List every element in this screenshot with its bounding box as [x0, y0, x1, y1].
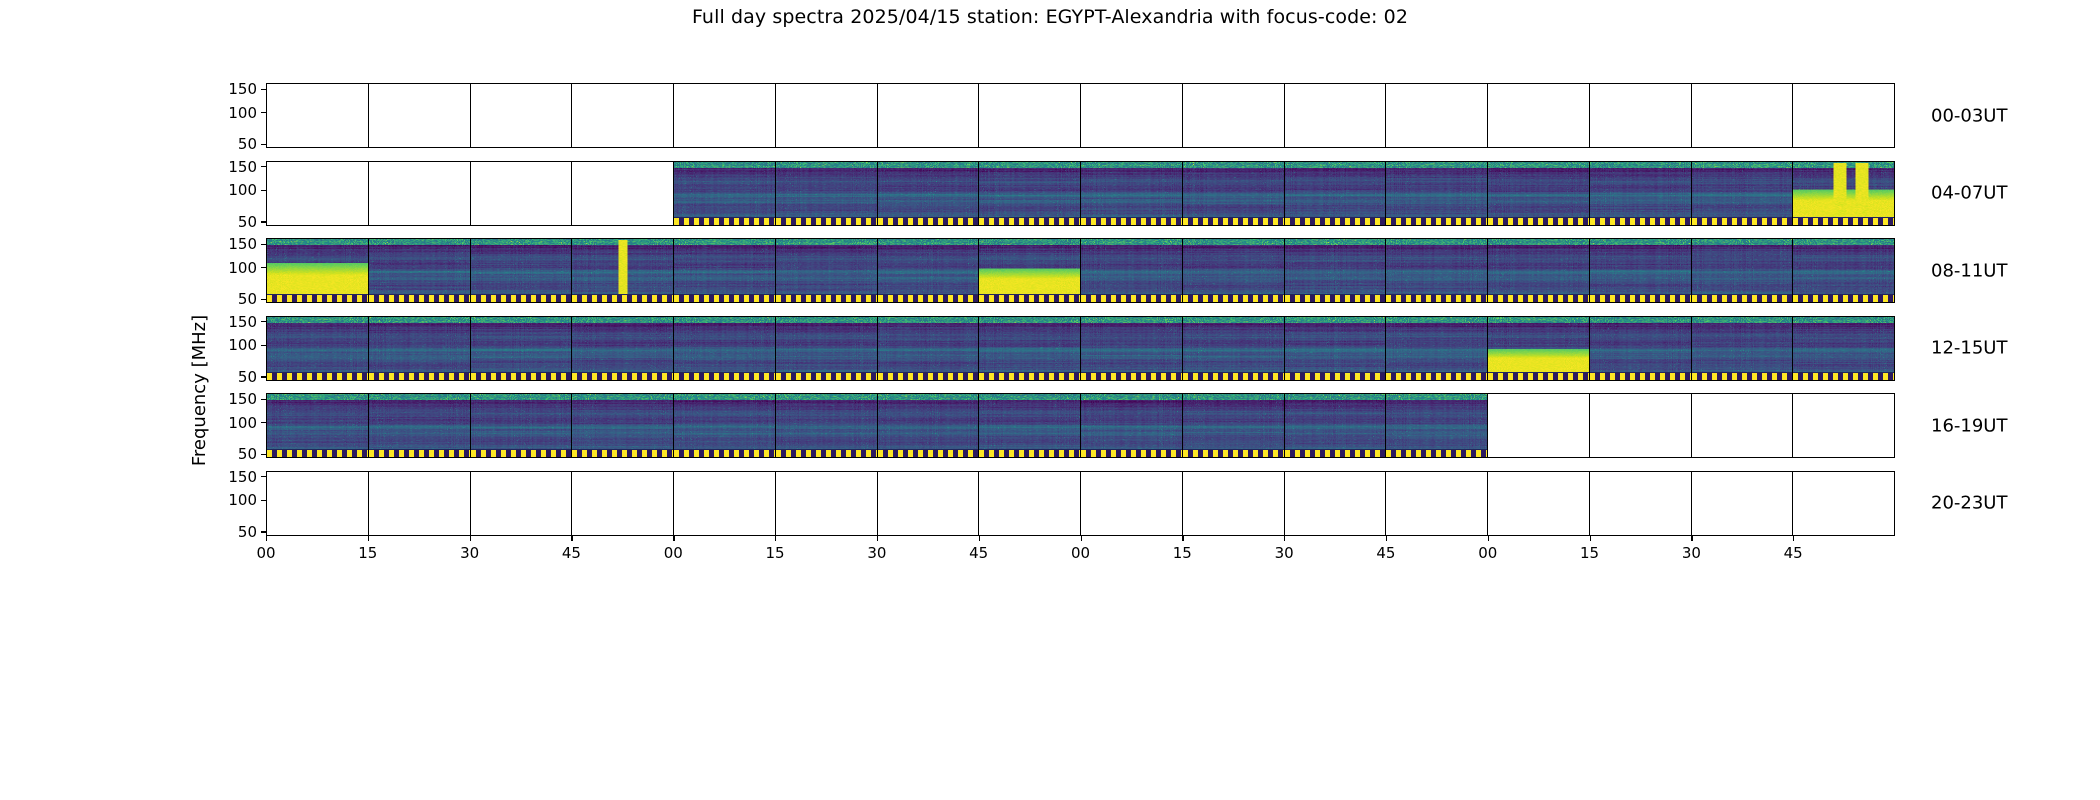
saturation-marker-strip: [1183, 294, 1284, 302]
row-panels: [267, 84, 1894, 147]
saturation-marker-strip: [1183, 217, 1284, 225]
x-axis-tick-mark: [1386, 536, 1387, 541]
spectrogram-panel: [1285, 317, 1387, 380]
saturation-marker-strip: [1488, 372, 1589, 380]
x-axis-tick-mark: [877, 536, 878, 541]
spectrogram-row: [266, 83, 1895, 148]
y-axis-tick-label: 50: [238, 213, 257, 231]
spectrogram-panel: [1488, 472, 1590, 535]
y-axis-tick-mark: [261, 221, 266, 222]
saturation-marker-strip: [471, 372, 572, 380]
spectrogram-image: [674, 394, 775, 457]
spectrogram-image: [1590, 317, 1691, 380]
spectrogram-panel: [1488, 317, 1590, 380]
spectrogram-panel: [1488, 394, 1590, 457]
spectrogram-image: [1793, 317, 1894, 380]
spectrogram-panel: [369, 317, 471, 380]
saturation-marker-strip: [878, 294, 979, 302]
y-axis-tick-label: 100: [228, 181, 257, 199]
spectrogram-panel: [267, 84, 369, 147]
spectrogram-image: [878, 317, 979, 380]
y-axis-tick-mark: [261, 399, 266, 400]
y-axis-tick-label: 100: [228, 259, 257, 277]
y-axis-tick-label: 150: [228, 313, 257, 331]
saturation-marker-strip: [369, 372, 470, 380]
y-axis-tick-mark: [261, 244, 266, 245]
x-axis-tick-label: 15: [358, 544, 377, 562]
spectrogram-panel: [369, 162, 471, 225]
saturation-marker-strip: [471, 449, 572, 457]
spectrogram-image: [369, 239, 470, 302]
spectrogram-image: [1488, 239, 1589, 302]
saturation-marker-strip: [979, 217, 1080, 225]
y-axis-tick-mark: [261, 190, 266, 191]
row-plot-box: [266, 471, 1895, 536]
spectrogram-image: [878, 239, 979, 302]
spectrogram-row: [266, 238, 1895, 303]
x-axis-tick-mark: [673, 536, 674, 541]
spectrogram-image: [1793, 239, 1894, 302]
spectrogram-image: [1081, 239, 1182, 302]
spectrogram-panel: [776, 239, 878, 302]
y-axis-tick-label: 150: [228, 235, 257, 253]
row-panels: [267, 239, 1894, 302]
y-axis-tick-label: 150: [228, 158, 257, 176]
saturation-marker-strip: [1692, 294, 1793, 302]
x-axis-tick-label: 15: [766, 544, 785, 562]
saturation-marker-strip: [1081, 449, 1182, 457]
spectrogram-image: [572, 239, 673, 302]
spectrogram-panel: [1692, 317, 1794, 380]
x-axis-tick-label: 15: [1173, 544, 1192, 562]
spectrogram-row: [266, 161, 1895, 226]
row-plot-box: [266, 316, 1895, 381]
x-axis-tick-mark: [1488, 536, 1489, 541]
y-axis-tick-label: 100: [228, 414, 257, 432]
spectrogram-panel: [471, 239, 573, 302]
x-axis-tick-mark: [1182, 536, 1183, 541]
y-axis-tick-label: 50: [238, 135, 257, 153]
row-time-label: 04-07UT: [1931, 183, 2007, 204]
spectrogram-panel: [1692, 394, 1794, 457]
row-panels: [267, 162, 1894, 225]
spectrogram-image: [1386, 239, 1487, 302]
y-axis-tick-label: 150: [228, 468, 257, 486]
spectrogram-panel: [1590, 472, 1692, 535]
spectrogram-panel: [1081, 84, 1183, 147]
y-axis-tick-mark: [261, 299, 266, 300]
x-axis-tick-mark: [1284, 536, 1285, 541]
spectrogram-panel: [1692, 84, 1794, 147]
x-axis-tick-label: 00: [256, 544, 275, 562]
saturation-marker-strip: [471, 294, 572, 302]
spectrogram-panel: [1285, 472, 1387, 535]
spectrogram-image: [1590, 162, 1691, 225]
spectrogram-image: [267, 317, 368, 380]
saturation-marker-strip: [878, 372, 979, 380]
row-plot-box: [266, 161, 1895, 226]
x-axis-tick-mark: [470, 536, 471, 541]
row-panels: [267, 317, 1894, 380]
spectrogram-image: [1183, 317, 1284, 380]
spectrogram-image: [1285, 394, 1386, 457]
spectrogram-panel: [1590, 317, 1692, 380]
spectrogram-row: [266, 393, 1895, 458]
spectrogram-panel: [1793, 84, 1894, 147]
spectrogram-panel: [369, 239, 471, 302]
saturation-marker-strip: [1183, 449, 1284, 457]
y-axis-tick-label: 150: [228, 80, 257, 98]
x-axis-tick-label: 45: [562, 544, 581, 562]
spectrogram-image: [878, 162, 979, 225]
spectrogram-panel: [776, 84, 878, 147]
saturation-marker-strip: [267, 449, 368, 457]
x-axis-tick-mark: [571, 536, 572, 541]
spectrogram-image: [979, 239, 1080, 302]
spectrogram-panel: [979, 162, 1081, 225]
row-plot-box: [266, 393, 1895, 458]
spectrogram-panel: [471, 472, 573, 535]
spectrogram-panel: [878, 84, 980, 147]
spectrogram-image: [369, 394, 470, 457]
y-axis-tick-mark: [261, 476, 266, 477]
spectrogram-image: [1793, 162, 1894, 225]
spectrogram-panel: [1285, 394, 1387, 457]
spectrogram-panel: [1488, 84, 1590, 147]
saturation-marker-strip: [1183, 372, 1284, 380]
spectrogram-panel: [979, 84, 1081, 147]
saturation-marker-strip: [1692, 217, 1793, 225]
saturation-marker-strip: [1386, 372, 1487, 380]
spectrogram-panel: [1590, 394, 1692, 457]
spectrogram-panel: [1488, 162, 1590, 225]
spectrogram-image: [979, 162, 1080, 225]
row-time-label: 12-15UT: [1931, 338, 2007, 359]
spectrogram-panel: [1692, 162, 1794, 225]
spectrogram-panel: [674, 394, 776, 457]
spectrogram-image: [1183, 162, 1284, 225]
row-time-label: 16-19UT: [1931, 415, 2007, 436]
spectrogram-panel: [979, 472, 1081, 535]
spectrogram-panel: [878, 162, 980, 225]
spectrogram-panel: [878, 239, 980, 302]
spectrogram-panel: [776, 162, 878, 225]
x-axis-tick-mark: [1691, 536, 1692, 541]
x-axis-tick-label: 00: [1071, 544, 1090, 562]
spectrogram-panel: [1183, 84, 1285, 147]
spectrogram-image: [878, 394, 979, 457]
spectrogram-image: [674, 317, 775, 380]
row-panels: [267, 394, 1894, 457]
spectrogram-image: [1386, 317, 1487, 380]
spectrogram-image: [1590, 239, 1691, 302]
x-axis-tick-mark: [266, 536, 267, 541]
spectrogram-panel: [572, 394, 674, 457]
spectrogram-panel: [776, 472, 878, 535]
spectrogram-panel: [1793, 317, 1894, 380]
spectrogram-panel: [471, 162, 573, 225]
x-axis-tick-label: 00: [1478, 544, 1497, 562]
spectrogram-image: [1081, 162, 1182, 225]
spectrogram-panel: [674, 84, 776, 147]
spectrogram-panel: [1081, 317, 1183, 380]
x-axis-tick-label: 45: [1784, 544, 1803, 562]
spectrogram-panel: [471, 394, 573, 457]
saturation-marker-strip: [369, 449, 470, 457]
y-axis-tick-label: 50: [238, 368, 257, 386]
spectrogram-panel: [979, 394, 1081, 457]
spectrogram-panel: [878, 394, 980, 457]
spectrogram-panel: [1793, 394, 1894, 457]
y-axis-tick-mark: [261, 422, 266, 423]
saturation-marker-strip: [1793, 372, 1894, 380]
spectrogram-panel: [1386, 239, 1488, 302]
x-axis-tick-mark: [368, 536, 369, 541]
y-axis-tick-label: 50: [238, 445, 257, 463]
spectrogram-image: [979, 317, 1080, 380]
y-axis-tick-mark: [261, 267, 266, 268]
spectrogram-panel: [267, 239, 369, 302]
spectrogram-panel: [776, 394, 878, 457]
saturation-marker-strip: [1692, 372, 1793, 380]
row-time-label: 20-23UT: [1931, 493, 2007, 514]
spectrogram-image: [267, 394, 368, 457]
saturation-marker-strip: [1386, 294, 1487, 302]
x-axis-tick-mark: [979, 536, 980, 541]
y-axis-tick-label: 150: [228, 390, 257, 408]
spectrogram-panel: [1081, 472, 1183, 535]
saturation-marker-strip: [979, 372, 1080, 380]
x-axis-tick-label: 30: [1275, 544, 1294, 562]
x-axis-tick-mark: [1590, 536, 1591, 541]
spectrogram-panel: [979, 317, 1081, 380]
spectrogram-image: [267, 239, 368, 302]
saturation-marker-strip: [1285, 372, 1386, 380]
spectrogram-image: [979, 394, 1080, 457]
spectrogram-panel: [878, 472, 980, 535]
spectrogram-panel: [1488, 239, 1590, 302]
spectrogram-panel: [369, 472, 471, 535]
spectrogram-panel: [1793, 162, 1894, 225]
spectrogram-image: [1692, 162, 1793, 225]
spectrogram-panel: [572, 239, 674, 302]
y-axis-tick-mark: [261, 89, 266, 90]
spectrogram-panel: [1285, 239, 1387, 302]
row-plot-box: [266, 83, 1895, 148]
spectrogram-image: [1285, 317, 1386, 380]
saturation-marker-strip: [1081, 217, 1182, 225]
saturation-marker-strip: [979, 294, 1080, 302]
spectrogram-panel: [1081, 239, 1183, 302]
saturation-marker-strip: [1386, 217, 1487, 225]
spectrogram-image: [1081, 317, 1182, 380]
y-axis-label: Frequency [MHz]: [188, 275, 212, 505]
spectrogram-panel: [369, 394, 471, 457]
y-axis-tick-label: 100: [228, 104, 257, 122]
y-axis-tick-mark: [261, 454, 266, 455]
spectrogram-panel: [471, 84, 573, 147]
saturation-marker-strip: [572, 449, 673, 457]
spectrogram-panel: [1183, 162, 1285, 225]
saturation-marker-strip: [1488, 294, 1589, 302]
saturation-marker-strip: [1081, 294, 1182, 302]
y-axis-tick-label: 50: [238, 290, 257, 308]
saturation-marker-strip: [776, 372, 877, 380]
saturation-marker-strip: [1386, 449, 1487, 457]
saturation-marker-strip: [1793, 294, 1894, 302]
y-axis-tick-mark: [261, 166, 266, 167]
spectrogram-panel: [1692, 239, 1794, 302]
saturation-marker-strip: [369, 294, 470, 302]
y-axis-label-text: Frequency [MHz]: [190, 314, 211, 465]
figure-canvas: Full day spectra 2025/04/15 station: EGY…: [0, 0, 2100, 800]
saturation-marker-strip: [979, 449, 1080, 457]
spectrogram-panel: [674, 317, 776, 380]
saturation-marker-strip: [878, 217, 979, 225]
spectrogram-image: [1692, 317, 1793, 380]
saturation-marker-strip: [267, 372, 368, 380]
spectrogram-panel: [1081, 394, 1183, 457]
saturation-marker-strip: [878, 449, 979, 457]
spectrogram-panel: [267, 472, 369, 535]
spectrogram-panel: [674, 162, 776, 225]
y-axis-tick-mark: [261, 321, 266, 322]
spectrogram-panel: [1692, 472, 1794, 535]
spectrogram-image: [1692, 239, 1793, 302]
spectrogram-image: [572, 394, 673, 457]
spectrogram-panel: [1386, 84, 1488, 147]
y-axis-tick-mark: [261, 376, 266, 377]
saturation-marker-strip: [1590, 217, 1691, 225]
y-axis-tick-mark: [261, 112, 266, 113]
spectrogram-panel: [471, 317, 573, 380]
spectrogram-row: [266, 471, 1895, 536]
spectrogram-panel: [1183, 239, 1285, 302]
spectrogram-image: [776, 162, 877, 225]
spectrogram-image: [471, 394, 572, 457]
spectrogram-panel: [267, 162, 369, 225]
spectrogram-panel: [369, 84, 471, 147]
x-axis-tick-mark: [1081, 536, 1082, 541]
x-axis-tick-label: 45: [969, 544, 988, 562]
row-time-label: 08-11UT: [1931, 260, 2007, 281]
spectrogram-panel: [1590, 239, 1692, 302]
spectrogram-image: [674, 239, 775, 302]
saturation-marker-strip: [267, 294, 368, 302]
saturation-marker-strip: [572, 372, 673, 380]
spectrogram-image: [369, 317, 470, 380]
saturation-marker-strip: [1590, 372, 1691, 380]
saturation-marker-strip: [674, 449, 775, 457]
saturation-marker-strip: [776, 449, 877, 457]
y-axis-tick-label: 50: [238, 523, 257, 541]
saturation-marker-strip: [1488, 217, 1589, 225]
y-axis-tick-mark: [261, 345, 266, 346]
row-panels: [267, 472, 1894, 535]
spectrogram-image: [776, 317, 877, 380]
spectrogram-panel: [1793, 239, 1894, 302]
spectrogram-panel: [1386, 317, 1488, 380]
spectrogram-image: [674, 162, 775, 225]
spectrogram-panel: [1285, 162, 1387, 225]
spectrogram-panel: [267, 394, 369, 457]
spectrogram-row: [266, 316, 1895, 381]
saturation-marker-strip: [1285, 449, 1386, 457]
spectrogram-panel: [267, 317, 369, 380]
spectrogram-image: [572, 317, 673, 380]
spectrogram-panel: [572, 472, 674, 535]
spectrogram-panel: [1285, 84, 1387, 147]
x-axis-tick-mark: [775, 536, 776, 541]
spectrogram-image: [776, 239, 877, 302]
saturation-marker-strip: [776, 294, 877, 302]
saturation-marker-strip: [776, 217, 877, 225]
x-axis-tick-label: 30: [867, 544, 886, 562]
y-axis-tick-label: 100: [228, 491, 257, 509]
y-axis-tick-mark: [261, 531, 266, 532]
spectrogram-image: [1488, 317, 1589, 380]
spectrogram-panel: [1183, 317, 1285, 380]
saturation-marker-strip: [1285, 217, 1386, 225]
x-axis-tick-label: 30: [460, 544, 479, 562]
spectrogram-panel: [572, 84, 674, 147]
spectrogram-image: [1488, 162, 1589, 225]
spectrogram-image: [1386, 162, 1487, 225]
spectrogram-panel: [674, 239, 776, 302]
spectrogram-panel: [1081, 162, 1183, 225]
saturation-marker-strip: [572, 294, 673, 302]
spectrogram-image: [1183, 394, 1284, 457]
spectrogram-panel: [979, 239, 1081, 302]
spectrogram-panel: [1590, 162, 1692, 225]
spectrogram-image: [1386, 394, 1487, 457]
spectrogram-panel: [776, 317, 878, 380]
spectrogram-panel: [1183, 394, 1285, 457]
spectrogram-panel: [1590, 84, 1692, 147]
spectrogram-image: [471, 239, 572, 302]
x-axis-tick-label: 30: [1682, 544, 1701, 562]
spectrogram-image: [1081, 394, 1182, 457]
spectrogram-panel: [572, 162, 674, 225]
spectrogram-panel: [1183, 472, 1285, 535]
spectrogram-image: [1285, 239, 1386, 302]
spectrogram-panel: [1386, 162, 1488, 225]
spectrogram-panel: [1793, 472, 1894, 535]
y-axis-tick-mark: [261, 144, 266, 145]
spectrogram-panel: [1386, 394, 1488, 457]
spectrogram-image: [1285, 162, 1386, 225]
row-plot-box: [266, 238, 1895, 303]
figure-title: Full day spectra 2025/04/15 station: EGY…: [0, 6, 2100, 28]
spectrogram-panel: [572, 317, 674, 380]
saturation-marker-strip: [1590, 294, 1691, 302]
spectrogram-image: [776, 394, 877, 457]
spectrogram-panel: [674, 472, 776, 535]
saturation-marker-strip: [1081, 372, 1182, 380]
x-axis-tick-label: 15: [1580, 544, 1599, 562]
spectrogram-image: [471, 317, 572, 380]
saturation-marker-strip: [674, 372, 775, 380]
saturation-marker-strip: [1285, 294, 1386, 302]
spectrogram-panel: [878, 317, 980, 380]
x-axis-tick-label: 45: [1376, 544, 1395, 562]
saturation-marker-strip: [1793, 217, 1894, 225]
saturation-marker-strip: [674, 294, 775, 302]
x-axis-tick-mark: [1793, 536, 1794, 541]
y-axis-tick-mark: [261, 500, 266, 501]
x-axis-tick-label: 00: [664, 544, 683, 562]
row-time-label: 00-03UT: [1931, 105, 2007, 126]
